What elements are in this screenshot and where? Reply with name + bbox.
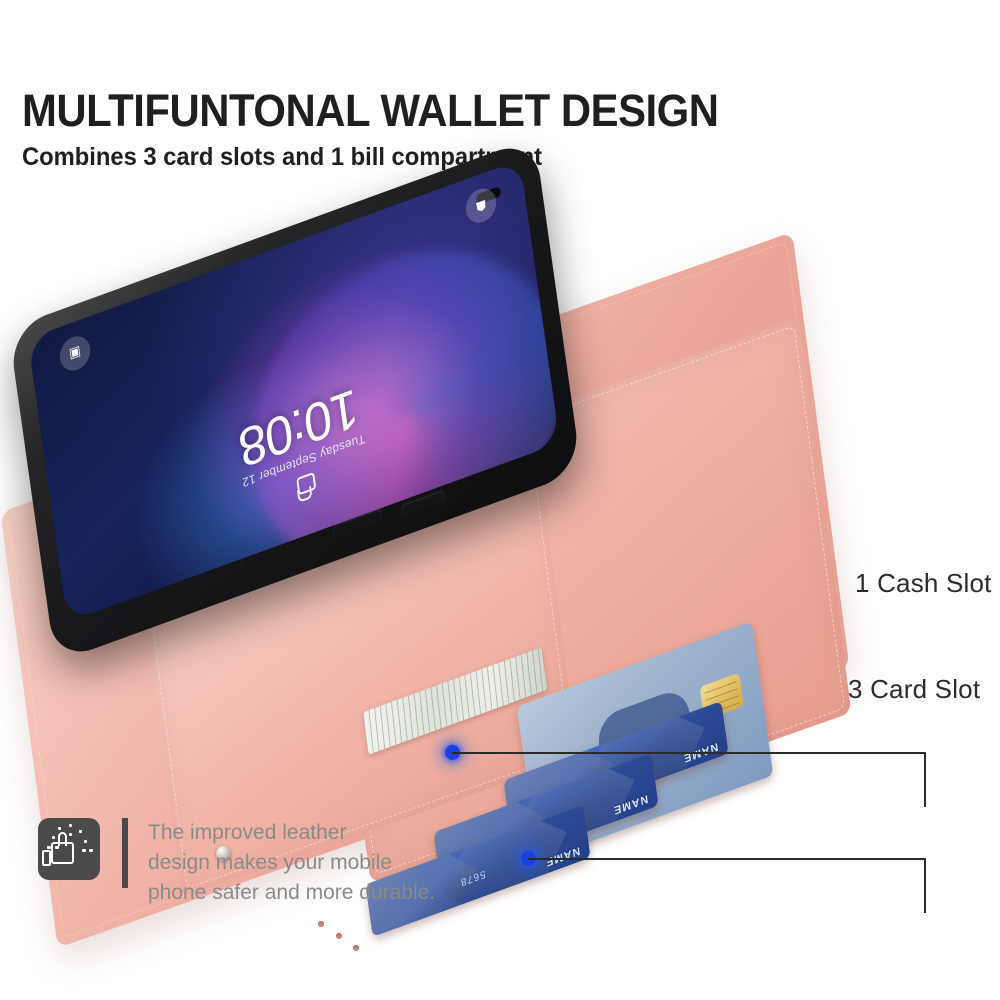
- lock-icon: [297, 472, 317, 496]
- callout-leader-cash-slot-vertical: [924, 752, 926, 807]
- sparkle-dot: [69, 824, 72, 827]
- sparkle-dot: [55, 846, 59, 849]
- sparkle-dot: [47, 846, 51, 849]
- sparkle-dot: [69, 833, 72, 836]
- callout-leader-card-slot: [528, 858, 926, 860]
- footer-line-2: design makes your mobile: [148, 848, 435, 878]
- flashlight-icon[interactable]: ☗: [464, 184, 499, 227]
- footer-line-3: phone safer and more durable.: [148, 878, 435, 908]
- page-subtitle: Combines 3 card slots and 1 bill compart…: [22, 145, 877, 170]
- footer-line-1: The improved leather: [148, 818, 435, 848]
- page-title: MULTIFUNTONAL WALLET DESIGN: [22, 88, 859, 133]
- sparkle-dot: [82, 849, 86, 852]
- footer-feature-block: The improved leather design makes your m…: [38, 818, 435, 907]
- thumbs-up-icon: [38, 818, 100, 880]
- wallet-punch-hole: [336, 933, 342, 939]
- sparkle-dot: [52, 836, 55, 839]
- camera-icon[interactable]: ▣: [58, 332, 93, 375]
- callout-leader-cash-slot: [452, 752, 926, 754]
- footer-divider: [122, 818, 128, 888]
- footer-description: The improved leather design makes your m…: [148, 818, 435, 907]
- wallet-punch-hole: [353, 945, 359, 951]
- callout-leader-card-slot-vertical: [924, 858, 926, 913]
- wallet-punch-hole: [318, 921, 324, 927]
- sparkle-dot: [84, 840, 87, 843]
- callout-label-card-slot: 3 Card Slot: [848, 674, 980, 705]
- sparkle-dot: [58, 827, 61, 830]
- sparkle-dot: [79, 830, 82, 833]
- callout-label-cash-slot: 1 Cash Slot: [855, 568, 992, 599]
- sparkle-dot: [89, 849, 93, 852]
- product-photo: 1234 5678 00/00 VALID THRU NAME 5678 NAM…: [0, 225, 1000, 800]
- header-block: MULTIFUNTONAL WALLET DESIGN Combines 3 c…: [22, 88, 922, 170]
